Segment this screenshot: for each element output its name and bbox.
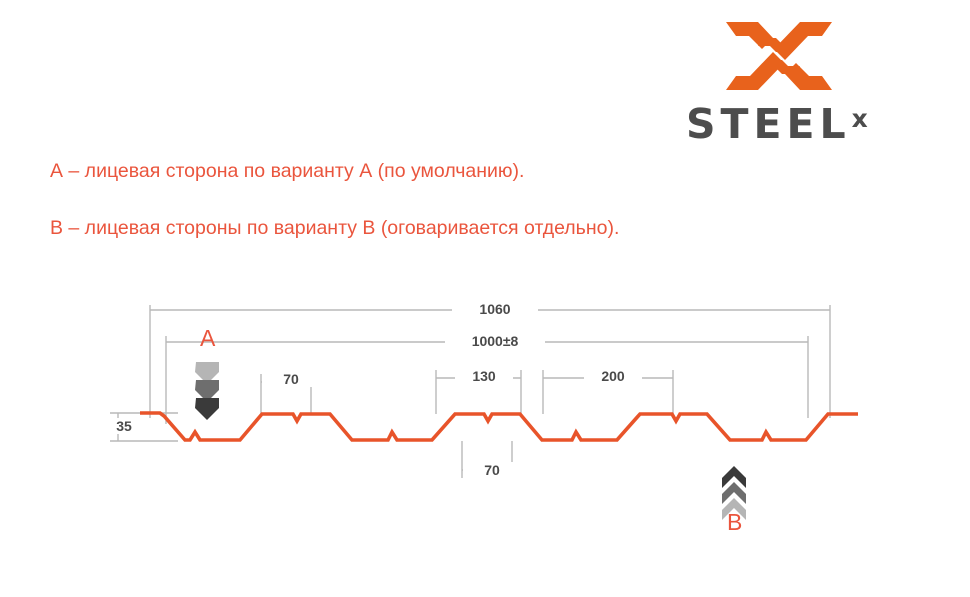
dimension-label-profile-height: 35 bbox=[101, 418, 147, 434]
dimension-label-valley-width: 70 bbox=[463, 462, 521, 478]
dimension-label-pitch-130: 130 bbox=[455, 368, 513, 384]
dimension-label-overall-width: 1060 bbox=[452, 301, 538, 317]
dimension-label-cover-width: 1000±8 bbox=[445, 333, 545, 349]
marker-a-chevrons bbox=[195, 362, 219, 420]
dimension-label-pitch-200: 200 bbox=[584, 368, 642, 384]
dimension-label-crest-width: 70 bbox=[262, 371, 320, 387]
marker-a-letter: A bbox=[200, 325, 215, 352]
marker-b-letter: B bbox=[727, 509, 742, 536]
corrugated-profile-drawing bbox=[0, 0, 970, 597]
extension-lines bbox=[110, 305, 830, 478]
profile-drawing-page: STEEL x А – лицевая сторона по варианту … bbox=[0, 0, 970, 597]
profile-section-line bbox=[140, 413, 858, 440]
